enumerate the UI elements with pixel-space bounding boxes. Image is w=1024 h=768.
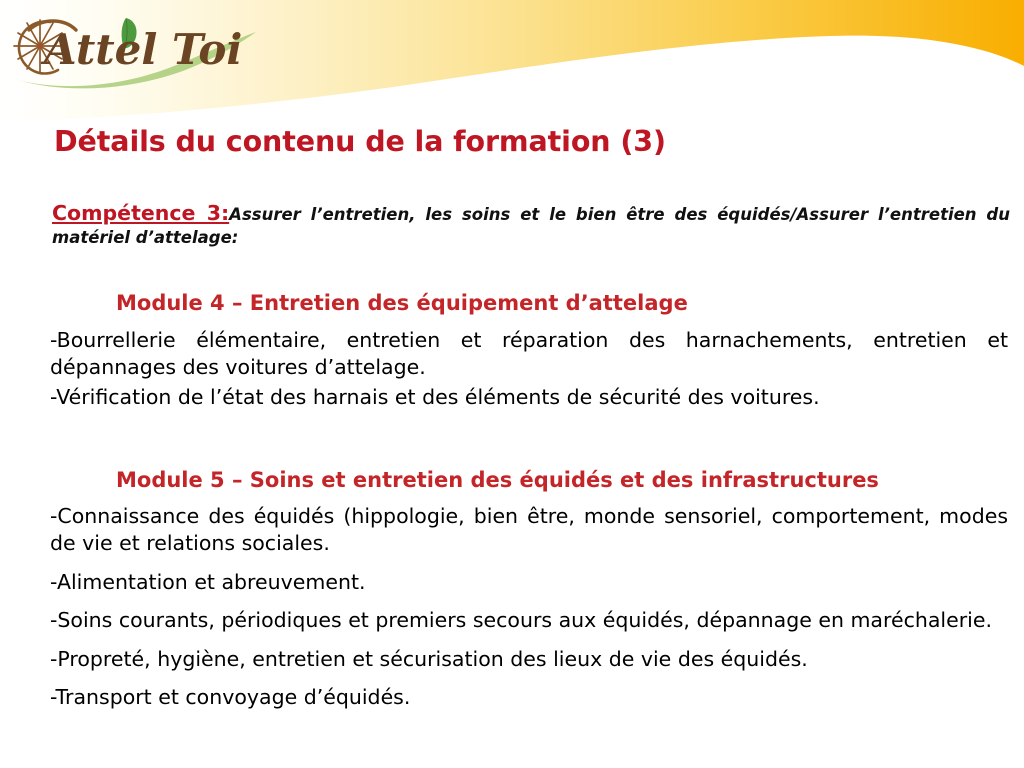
bullet-item: -Transport et convoyage d’équidés. xyxy=(50,684,1008,711)
module-4-heading: Module 4 – Entretien des équipement d’at… xyxy=(116,291,688,315)
competence-statement: Compétence 3:Assurer l’entretien, les so… xyxy=(52,200,1010,248)
bullet-item: -Vérification de l’état des harnais et d… xyxy=(50,384,1008,411)
banner-graphic xyxy=(0,0,1024,132)
module-4-content: -Bourrellerie élémentaire, entretien et … xyxy=(50,327,1008,411)
bullet-item: -Soins courants, périodiques et premiers… xyxy=(50,607,1008,634)
competence-label: Compétence 3: xyxy=(52,201,229,225)
header-banner xyxy=(0,0,1024,132)
bullet-item: -Connaissance des équidés (hippologie, b… xyxy=(50,503,1008,558)
bullet-item: -Propreté, hygiène, entretien et sécuris… xyxy=(50,646,1008,673)
bullet-item: -Bourrellerie élémentaire, entretien et … xyxy=(50,327,1008,382)
page-title: Détails du contenu de la formation (3) xyxy=(54,125,666,158)
module-5-heading: Module 5 – Soins et entretien des équidé… xyxy=(116,468,879,492)
module-5-content: -Connaissance des équidés (hippologie, b… xyxy=(50,503,1008,712)
presentation-slide: Attel Toi Détails du contenu de la forma… xyxy=(0,0,1024,768)
bullet-item: -Alimentation et abreuvement. xyxy=(50,569,1008,596)
